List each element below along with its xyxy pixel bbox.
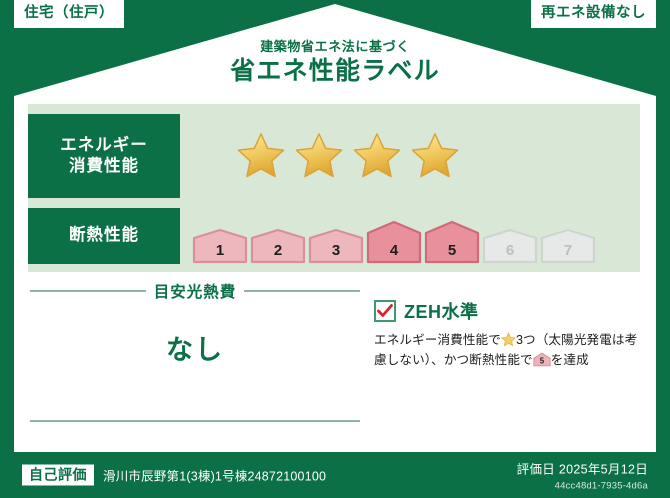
star-icon: [292, 130, 346, 182]
insulation-level-5: 5: [424, 220, 480, 264]
insulation-level-1: 1: [192, 228, 248, 264]
zeh-block: ZEH水準 エネルギー消費性能で3つ（太陽光発電は考慮しない）、かつ断熱性能で5…: [374, 298, 642, 370]
utility-cost-heading-text: 目安光熱費: [154, 280, 237, 302]
insulation-badge-icon: 5: [533, 352, 551, 367]
insulation-label-line1: 断熱性能: [69, 225, 139, 246]
property-identifier: 滑川市辰野第1(3棟)1号棟24872100100: [103, 466, 326, 485]
insulation-level-value: 2: [250, 243, 306, 258]
insulation-level-value: 5: [424, 243, 480, 258]
building-type-tag: 住宅（住戸）: [14, 0, 124, 28]
page-title: 省エネ性能ラベル: [0, 58, 670, 86]
insulation-level-3: 3: [308, 228, 364, 264]
insulation-level-value: 4: [366, 243, 422, 258]
evaluation-date: 評価日 2025年5月12日: [517, 459, 648, 478]
star-icon: [350, 130, 404, 182]
zeh-checkbox[interactable]: [374, 300, 396, 322]
star-icon: [234, 130, 288, 182]
insulation-level-value: 3: [308, 243, 364, 258]
label-footer: 自己評価 滑川市辰野第1(3棟)1号棟24872100100 評価日 2025年…: [0, 452, 670, 498]
heading-rule-right: [244, 290, 360, 292]
insulation-level-value: 1: [192, 243, 248, 258]
zeh-desc-part3: を達成: [551, 353, 589, 367]
utility-cost-heading: 目安光熱費: [30, 280, 360, 302]
insulation-performance-value: 1234567: [180, 208, 640, 264]
utility-cost-block: 目安光熱費 なし: [30, 280, 360, 367]
energy-performance-value: [180, 114, 640, 198]
evaluation-date-label: 評価日: [517, 463, 555, 477]
insulation-level-scale: 1234567: [180, 208, 596, 264]
check-icon: [377, 304, 393, 318]
zeh-description: エネルギー消費性能で3つ（太陽光発電は考慮しない）、かつ断熱性能で5を達成: [374, 331, 642, 370]
insulation-level-4: 4: [366, 220, 422, 264]
evaluation-date-value: 2025年5月12日: [559, 463, 648, 477]
energy-performance-row: エネルギー 消費性能: [28, 114, 640, 198]
footer-right-group: 評価日 2025年5月12日 44cc48d1-7935-4d6a: [517, 459, 648, 492]
label-subtitle: 建築物省エネ法に基づく: [0, 40, 670, 54]
performance-panel: エネルギー 消費性能 断熱性能 1234567: [28, 104, 640, 272]
insulation-performance-label-box: 断熱性能: [28, 208, 180, 264]
zeh-desc-stars: 3つ（太陽光発電: [516, 333, 612, 347]
label-lower-section: 目安光熱費 なし ZEH水準 エネルギー消費性能で3つ（太陽光発電は考慮しない）: [14, 280, 656, 450]
utility-cost-bottom-rule: [30, 420, 360, 422]
label-body-card: エネルギー 消費性能 断熱性能 1234567: [14, 96, 656, 452]
energy-label-line1: エネルギー: [60, 135, 148, 156]
zeh-desc-part1: エネルギー消費性能で: [374, 333, 501, 347]
star-rating: [180, 130, 462, 182]
energy-performance-label: 住宅（住戸） 再エネ設備なし 建築物省エネ法に基づく 省エネ性能ラベル エネルギ…: [0, 0, 670, 498]
energy-performance-label-box: エネルギー 消費性能: [28, 114, 180, 198]
svg-text:5: 5: [540, 356, 545, 365]
zeh-heading: ZEH水準: [374, 298, 642, 324]
insulation-level-7: 7: [540, 228, 596, 264]
renewable-energy-tag: 再エネ設備なし: [531, 0, 656, 28]
insulation-level-value: 6: [482, 243, 538, 258]
self-assessment-badge: 自己評価: [22, 465, 94, 486]
star-icon: [501, 332, 516, 347]
document-uuid: 44cc48d1-7935-4d6a: [517, 481, 648, 492]
utility-cost-value: なし: [30, 328, 360, 367]
label-title-block: 建築物省エネ法に基づく 省エネ性能ラベル: [0, 40, 670, 86]
footer-left-group: 自己評価 滑川市辰野第1(3棟)1号棟24872100100: [22, 465, 326, 486]
insulation-level-2: 2: [250, 228, 306, 264]
energy-label-line2: 消費性能: [69, 156, 139, 177]
insulation-performance-row: 断熱性能 1234567: [28, 208, 640, 264]
insulation-level-value: 7: [540, 243, 596, 258]
star-icon: [408, 130, 462, 182]
zeh-title: ZEH水準: [404, 298, 479, 324]
insulation-level-6: 6: [482, 228, 538, 264]
heading-rule-left: [30, 290, 146, 292]
